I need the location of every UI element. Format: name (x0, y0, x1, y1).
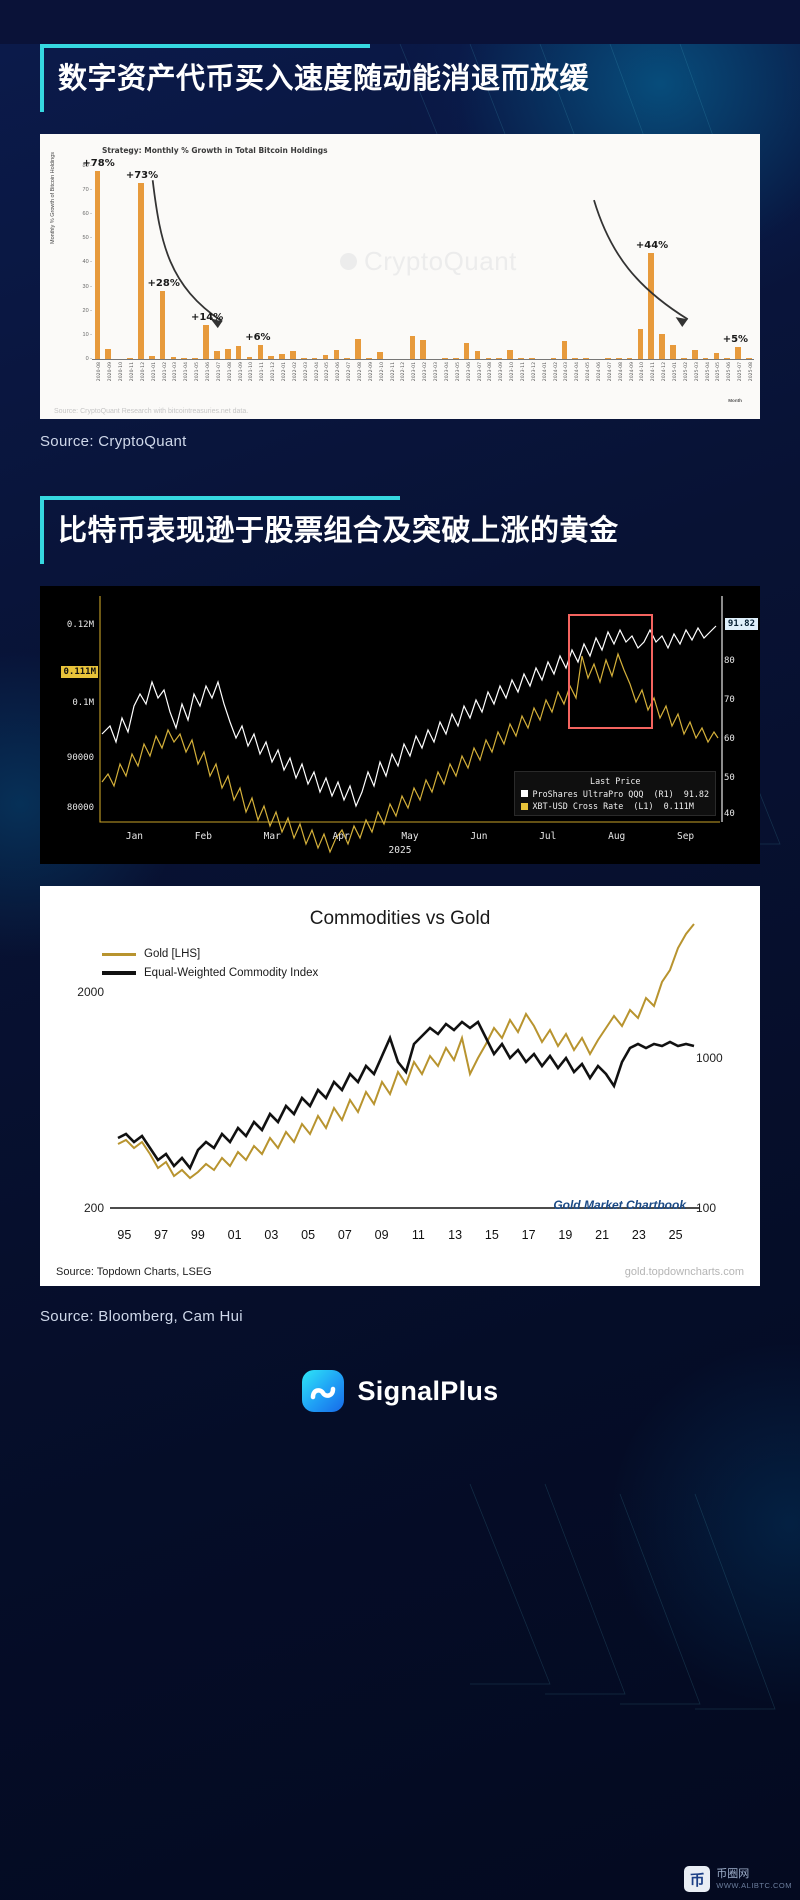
chart1-x-tick: 2022-01 (277, 360, 288, 395)
chart3-y-tick-right: 1000 (696, 1051, 723, 1065)
chart3-x-tick: 01 (216, 1228, 253, 1242)
chart1-x-tick: 2022-12 (396, 360, 407, 395)
chart1-x-tick: 2025-01 (668, 360, 679, 395)
chart1-y-axis: 0 -10 -20 -30 -40 -50 -60 -70 -80 - (70, 156, 94, 359)
chart1-x-tick: 2022-06 (331, 360, 342, 395)
chart1-x-tick: 2025-06 (722, 360, 733, 395)
chart3-branding: Gold Market Chartbook (553, 1198, 686, 1212)
chart1-x-tick: 2024-10 (635, 360, 646, 395)
bloomberg-x-tick: Jan (100, 831, 169, 842)
chart3-x-tick: 13 (437, 1228, 474, 1242)
chart1-ylabel: Monthly % Growth of Bitcoin Holdings (50, 152, 56, 244)
chart1-x-tick: 2021-05 (190, 360, 201, 395)
chart3-x-tick: 07 (327, 1228, 364, 1242)
chart3-x-tick: 25 (657, 1228, 694, 1242)
chart1-annotation: +14% (191, 312, 223, 323)
chart1-x-tick: 2024-03 (559, 360, 570, 395)
chart1-title: Strategy: Monthly % Growth in Total Bitc… (102, 146, 328, 155)
chart1-x-tick: 2025-05 (711, 360, 722, 395)
chart1-x-tick: 2021-01 (146, 360, 157, 395)
chart1-x-tick: 2020-08 (92, 360, 103, 395)
chart1-x-tick: 2024-11 (646, 360, 657, 395)
chart3-x-tick: 95 (106, 1228, 143, 1242)
bloomberg-chart: 0.12M0.1M90000800000.111M 8070605040 91.… (40, 586, 760, 864)
chart1-x-tick: 2023-07 (472, 360, 483, 395)
chart1-x-tick: 2023-11 (516, 360, 527, 395)
bloomberg-x-tick: Mar (238, 831, 307, 842)
chart1-annotation: +44% (636, 240, 668, 251)
section-1-heading: 数字资产代币买入速度随动能消退而放缓 (40, 44, 760, 112)
chart1-x-tick: 2021-02 (157, 360, 168, 395)
chart1-x-tick: 2025-08 (744, 360, 755, 395)
footer-brand: SignalPlus (0, 1369, 800, 1413)
bloomberg-legend-row-qqq: ProShares UltraPro QQQ (R1) 91.82 (521, 788, 709, 800)
bloomberg-y-axis-left: 0.12M0.1M90000800000.111M (46, 586, 98, 864)
chart1-x-tick: 2021-08 (222, 360, 233, 395)
chart1-x-tick: 2024-08 (613, 360, 624, 395)
chart1-x-axis: 2020-082020-092020-102020-112020-122021-… (92, 359, 754, 395)
bloomberg-x-tick: Sep (651, 831, 720, 842)
section-2-source: Source: Bloomberg, Cam Hui (40, 1308, 760, 1325)
bloomberg-x-axis: JanFebMarAprMayJunJulAugSep (100, 831, 720, 842)
chart1-x-tick: 2021-12 (266, 360, 277, 395)
chart1-x-tick: 2021-07 (211, 360, 222, 395)
chart1-y-tick: 10 - (83, 332, 92, 338)
chart1-y-tick: 40 - (83, 259, 92, 265)
heading-accent-bar-vertical (40, 44, 44, 112)
chart1-y-tick: 30 - (83, 284, 92, 290)
bloomberg-x-tick: Jul (513, 831, 582, 842)
chart1-x-tick: 2020-09 (103, 360, 114, 395)
chart1-x-tick: 2024-09 (624, 360, 635, 395)
bloomberg-y-tick-right: 40 (724, 809, 735, 819)
chart1-x-tick: 2025-04 (700, 360, 711, 395)
heading-accent-bar-vertical-2 (40, 496, 44, 564)
bloomberg-y-tick-left: 0.1M (72, 698, 94, 708)
chart3-y-axis-right: 1000100 (694, 886, 746, 1286)
chart1-x-tick: 2023-01 (407, 360, 418, 395)
watermark-subtext: WWW.ALIBTC.COM (716, 1881, 792, 1890)
chart1-x-tick: 2022-09 (363, 360, 374, 395)
chart1-x-tick: 2025-02 (678, 360, 689, 395)
chart3-x-tick: 03 (253, 1228, 290, 1242)
chart1-x-tick: 2024-04 (570, 360, 581, 395)
chart1-x-tick: 2021-06 (201, 360, 212, 395)
chart1-x-tick: 2022-02 (287, 360, 298, 395)
chart1-source: Source: CryptoQuant Research with bitcoi… (54, 408, 248, 415)
chart3-x-tick: 09 (363, 1228, 400, 1242)
chart1-x-tick: 2020-10 (114, 360, 125, 395)
bloomberg-y-tick-left: 90000 (67, 753, 94, 763)
chart1-x-tick: 2023-05 (450, 360, 461, 395)
commodities-gold-chart: Commodities vs Gold Gold [LHS] Equal-Wei… (40, 886, 760, 1286)
bloomberg-y-tick-right: 60 (724, 734, 735, 744)
chart3-x-tick: 21 (584, 1228, 621, 1242)
chart3-y-axis-left: 2000200 (54, 886, 106, 1286)
chart1-x-tick: 2023-03 (429, 360, 440, 395)
chart3-x-tick: 23 (621, 1228, 658, 1242)
section-2-title: 比特币表现逊于股票组合及突破上涨的黄金 (58, 510, 760, 552)
chart1-annotation: +78% (82, 158, 114, 169)
chart3-y-tick-right: 100 (696, 1201, 716, 1215)
bloomberg-x-tick: Apr (307, 831, 376, 842)
chart1-x-tick: 2024-06 (592, 360, 603, 395)
chart1-x-tick: 2020-11 (125, 360, 136, 395)
site-watermark: 币 币圈网 WWW.ALIBTC.COM (684, 1866, 792, 1892)
chart1-x-tick: 2021-11 (255, 360, 266, 395)
bloomberg-y-tick-left: 80000 (67, 803, 94, 813)
legend-swatch-qqq-icon (521, 790, 528, 797)
figure-commodities-gold-chart: Commodities vs Gold Gold [LHS] Equal-Wei… (40, 886, 760, 1286)
chart1-y-tick: 50 - (83, 235, 92, 241)
chart1-x-tick: 2021-03 (168, 360, 179, 395)
chart1-x-tick: 2023-08 (483, 360, 494, 395)
bloomberg-legend-row-xbt: XBT-USD Cross Rate (L1) 0.111M (521, 800, 709, 812)
bloomberg-legend: Last Price ProShares UltraPro QQQ (R1) 9… (514, 771, 716, 817)
cryptoquant-chart: Strategy: Monthly % Growth in Total Bitc… (40, 134, 760, 419)
bloomberg-x-tick: May (376, 831, 445, 842)
chart1-x-tick: 2022-04 (309, 360, 320, 395)
chart1-x-tick: 2024-07 (602, 360, 613, 395)
bloomberg-year-label: 2025 (40, 845, 760, 856)
bloomberg-last-price-tag-left: 0.111M (61, 666, 98, 678)
figure-cryptoquant-chart: Strategy: Monthly % Growth in Total Bitc… (40, 134, 760, 419)
watermark-badge-icon: 币 (684, 1866, 710, 1892)
bloomberg-y-tick-right: 80 (724, 656, 735, 666)
section-2-heading: 比特币表现逊于股票组合及突破上涨的黄金 (40, 496, 760, 564)
chart3-x-tick: 17 (510, 1228, 547, 1242)
chart1-annotation: +28% (148, 278, 180, 289)
section-1-source: Source: CryptoQuant (40, 433, 760, 450)
bloomberg-y-tick-left: 0.12M (67, 620, 94, 630)
chart1-x-tick: 2025-07 (733, 360, 744, 395)
chart1-x-tick: 2023-09 (494, 360, 505, 395)
chart1-x-tick: 2024-01 (537, 360, 548, 395)
chart1-x-tick: 2021-10 (244, 360, 255, 395)
chart1-x-tick: 2022-10 (374, 360, 385, 395)
chart1-x-tick: 2022-11 (385, 360, 396, 395)
heading-accent-bar-horizontal-2 (40, 496, 400, 500)
bloomberg-x-tick: Jun (444, 831, 513, 842)
chart3-url-note: gold.topdowncharts.com (625, 1266, 744, 1278)
chart3-x-axis: 95979901030507091113151719212325 (106, 1228, 694, 1242)
chart1-x-tick: 2021-09 (233, 360, 244, 395)
chart1-x-tick: 2025-03 (689, 360, 700, 395)
chart1-trend-arrows (92, 156, 754, 380)
chart1-annotation: +6% (245, 332, 270, 343)
chart1-x-tick: 2022-08 (353, 360, 364, 395)
chart3-source: Source: Topdown Charts, LSEG (56, 1266, 212, 1278)
chart3-x-tick: 99 (180, 1228, 217, 1242)
chart1-x-tick: 2020-12 (135, 360, 146, 395)
chart1-x-tick: 2022-03 (298, 360, 309, 395)
chart3-y-tick-left: 2000 (77, 985, 104, 999)
chart1-y-tick: 70 - (83, 187, 92, 193)
chart3-x-tick: 19 (547, 1228, 584, 1242)
chart1-x-tick: 2023-04 (440, 360, 451, 395)
chart1-xlabel: Month (728, 398, 742, 403)
chart1-y-tick: 20 - (83, 308, 92, 314)
bloomberg-y-tick-right: 70 (724, 695, 735, 705)
chart1-x-tick: 2024-12 (657, 360, 668, 395)
section-1-title: 数字资产代币买入速度随动能消退而放缓 (58, 58, 760, 100)
watermark-text: 币圈网 (716, 1868, 792, 1881)
chart1-x-tick: 2024-02 (548, 360, 559, 395)
chart3-y-tick-left: 200 (84, 1201, 104, 1215)
bloomberg-last-price-tag-right: 91.82 (725, 618, 758, 630)
chart1-x-tick: 2022-07 (342, 360, 353, 395)
chart1-x-tick: 2023-10 (505, 360, 516, 395)
legend-swatch-xbt-icon (521, 803, 528, 810)
heading-accent-bar-horizontal (40, 44, 370, 48)
chart1-y-tick: 60 - (83, 211, 92, 217)
chart3-plot-area (40, 886, 760, 1286)
chart3-x-tick: 97 (143, 1228, 180, 1242)
signalplus-logo-icon (301, 1369, 345, 1413)
chart1-annotation: +5% (723, 334, 748, 345)
legend-label-qqq: ProShares UltraPro QQQ (R1) 91.82 (532, 788, 709, 800)
chart3-x-tick: 11 (400, 1228, 437, 1242)
chart1-x-tick: 2024-05 (581, 360, 592, 395)
bloomberg-plot-area (40, 586, 760, 864)
chart1-plot-area (92, 156, 754, 359)
chart1-x-tick: 2023-06 (461, 360, 472, 395)
bloomberg-y-tick-right: 50 (724, 773, 735, 783)
bloomberg-legend-title: Last Price (521, 775, 709, 787)
chart3-x-tick: 15 (474, 1228, 511, 1242)
chart1-annotation: +73% (126, 170, 158, 181)
chart1-x-tick: 2021-04 (179, 360, 190, 395)
legend-label-xbt: XBT-USD Cross Rate (L1) 0.111M (532, 800, 693, 812)
signalplus-brand-text: SignalPlus (357, 1376, 498, 1407)
chart1-x-tick: 2023-12 (526, 360, 537, 395)
chart1-x-tick: 2023-02 (418, 360, 429, 395)
figure-bloomberg-chart: 0.12M0.1M90000800000.111M 8070605040 91.… (40, 586, 760, 864)
chart3-x-tick: 05 (290, 1228, 327, 1242)
chart1-x-tick: 2022-05 (320, 360, 331, 395)
bloomberg-x-tick: Aug (582, 831, 651, 842)
bloomberg-x-tick: Feb (169, 831, 238, 842)
